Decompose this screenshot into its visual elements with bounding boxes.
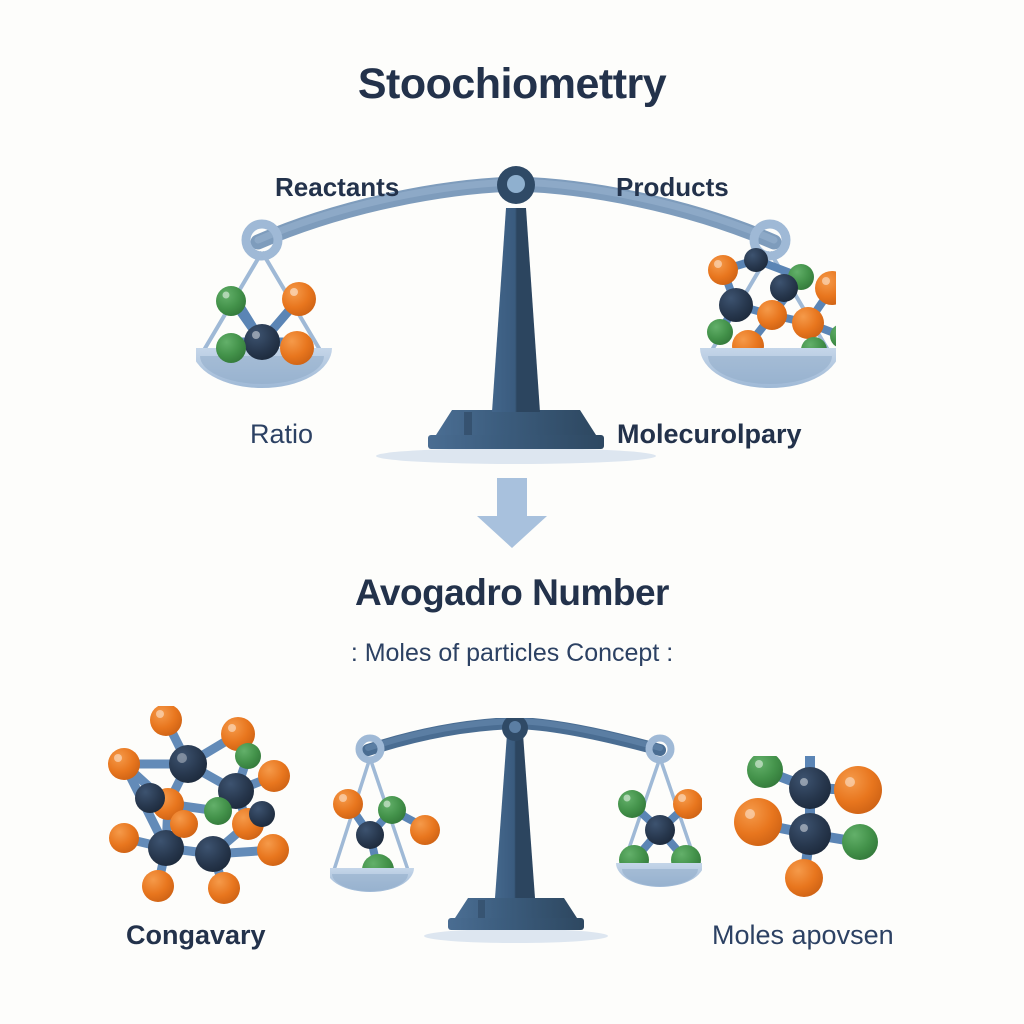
- atom-oxygen: [109, 823, 139, 853]
- atom-nitrogen: [235, 743, 261, 769]
- atom-oxygen: [708, 255, 738, 285]
- scale-base: [428, 410, 604, 449]
- atom-carbon: [249, 801, 275, 827]
- atom-nitrogen: [747, 756, 783, 788]
- atom-nitrogen: [842, 824, 878, 860]
- label-molecurolpary: Molecurolpary: [617, 419, 802, 450]
- section-title: Avogadro Number: [0, 572, 1024, 614]
- atom-carbon: [719, 288, 753, 322]
- atom-nitrogen: [216, 286, 246, 316]
- atom-nitrogen: [216, 333, 246, 363]
- scale-shadow: [424, 929, 608, 943]
- atom-carbon: [789, 813, 831, 855]
- atom-carbon: [356, 821, 384, 849]
- right-pan-molecule: [707, 248, 836, 363]
- atom-carbon: [744, 248, 768, 272]
- atom-nitrogen: [204, 797, 232, 825]
- label-moles-apovsen: Moles apovsen: [712, 920, 894, 951]
- label-products: Products: [616, 172, 729, 203]
- atom-nitrogen: [707, 319, 733, 345]
- atom-oxygen: [282, 282, 316, 316]
- atom-nitrogen: [618, 790, 646, 818]
- scale-base: [448, 898, 584, 930]
- label-reactants: Reactants: [275, 172, 399, 203]
- atom-oxygen: [208, 872, 240, 904]
- atom-carbon: [244, 324, 280, 360]
- scale-column: [495, 734, 535, 898]
- atom-oxygen: [108, 748, 140, 780]
- atom-oxygen: [834, 766, 882, 814]
- down-arrow-icon: [466, 478, 558, 550]
- left-pan-small: [330, 868, 414, 892]
- two-center-molecule-graphic: [730, 756, 920, 911]
- right-pan: [700, 348, 836, 388]
- right-pan-small: [616, 863, 702, 887]
- atom-carbon: [645, 815, 675, 845]
- atom-oxygen: [333, 789, 363, 819]
- page-title: Stoochiomettry: [0, 60, 1024, 109]
- atom-oxygen: [757, 300, 787, 330]
- atom-oxygen: [734, 798, 782, 846]
- lattice-cluster-graphic: [88, 706, 308, 906]
- right-pan-molecule-small: [618, 789, 702, 875]
- scale-shadow: [376, 448, 656, 464]
- label-congavary: Congavary: [126, 920, 266, 951]
- atom-oxygen: [258, 760, 290, 792]
- atom-oxygen: [815, 271, 836, 305]
- atom-oxygen: [150, 706, 182, 736]
- atom-oxygen: [792, 307, 824, 339]
- atom-oxygen: [673, 789, 702, 819]
- atom-oxygen: [410, 815, 440, 845]
- atom-oxygen: [142, 870, 174, 902]
- atom-carbon: [195, 836, 231, 872]
- scale-column: [492, 208, 540, 412]
- atom-oxygen: [280, 331, 314, 365]
- atom-carbon: [169, 745, 207, 783]
- illustration-canvas: Stoochiomettry: [0, 0, 1024, 1024]
- left-pan-molecule: [216, 282, 316, 365]
- atom-carbon: [135, 783, 165, 813]
- label-ratio: Ratio: [250, 419, 313, 450]
- atom-oxygen: [257, 834, 289, 866]
- atom-oxygen: [170, 810, 198, 838]
- scale-pivot: [497, 166, 535, 204]
- bottom-balance-scale: [330, 718, 702, 966]
- atom-nitrogen: [378, 796, 406, 824]
- scale-pivot: [502, 718, 528, 741]
- atom-carbon: [789, 767, 831, 809]
- atom-carbon: [770, 274, 798, 302]
- section-subtitle: : Moles of particles Concept :: [0, 639, 1024, 668]
- atom-oxygen: [785, 859, 823, 897]
